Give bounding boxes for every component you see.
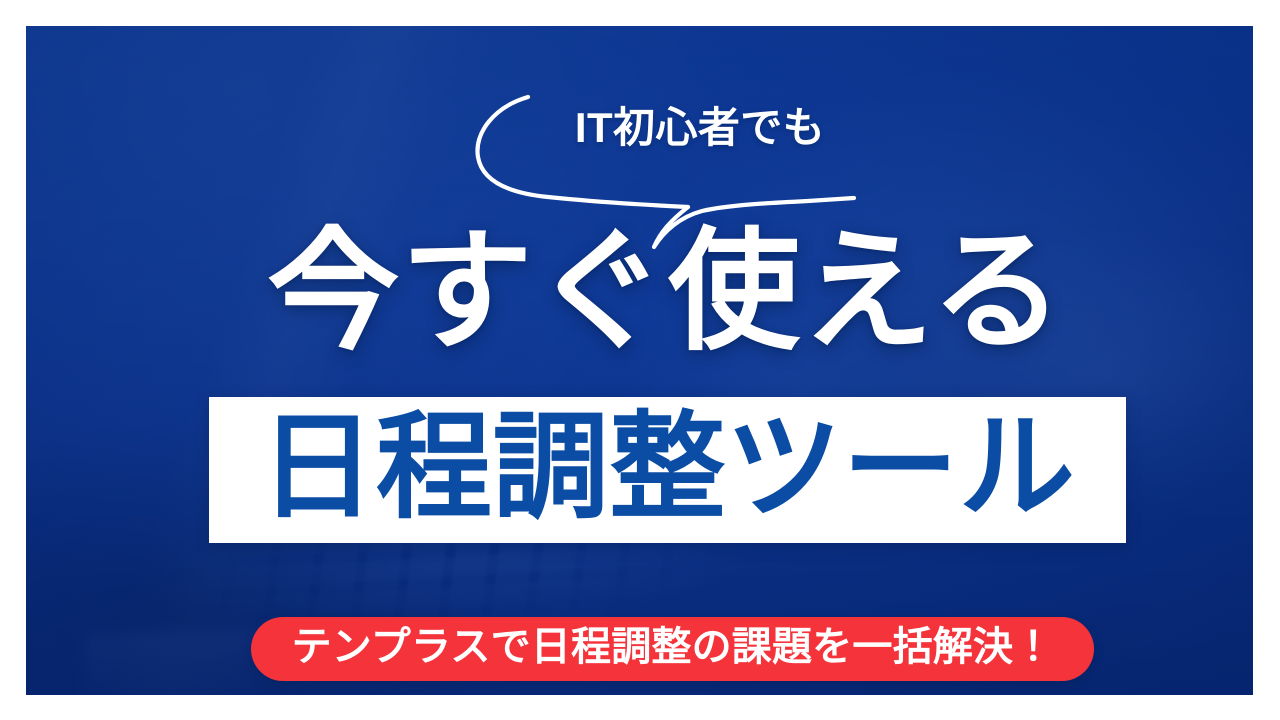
tagline-badge: テンプラスで日程調整の課題を一括解決！ <box>251 617 1094 681</box>
tagline-badge-text: テンプラスで日程調整の課題を一括解決！ <box>292 627 1054 667</box>
thumbnail-canvas: IT初心者でも 今すぐ使える 日程調整ツール テンプラスで日程調整の課題を一括解… <box>0 0 1280 720</box>
subtitle-banner-text: 日程調整ツール <box>259 409 1075 525</box>
main-headline: 今すぐ使える <box>26 222 1253 362</box>
content-stack: IT初心者でも 今すぐ使える 日程調整ツール テンプラスで日程調整の課題を一括解… <box>26 26 1253 695</box>
speech-bubble: IT初心者でも <box>456 81 886 241</box>
subtitle-banner: 日程調整ツール <box>209 397 1126 543</box>
speech-bubble-text: IT初心者でも <box>456 107 886 149</box>
hero-panel: IT初心者でも 今すぐ使える 日程調整ツール テンプラスで日程調整の課題を一括解… <box>26 26 1253 695</box>
